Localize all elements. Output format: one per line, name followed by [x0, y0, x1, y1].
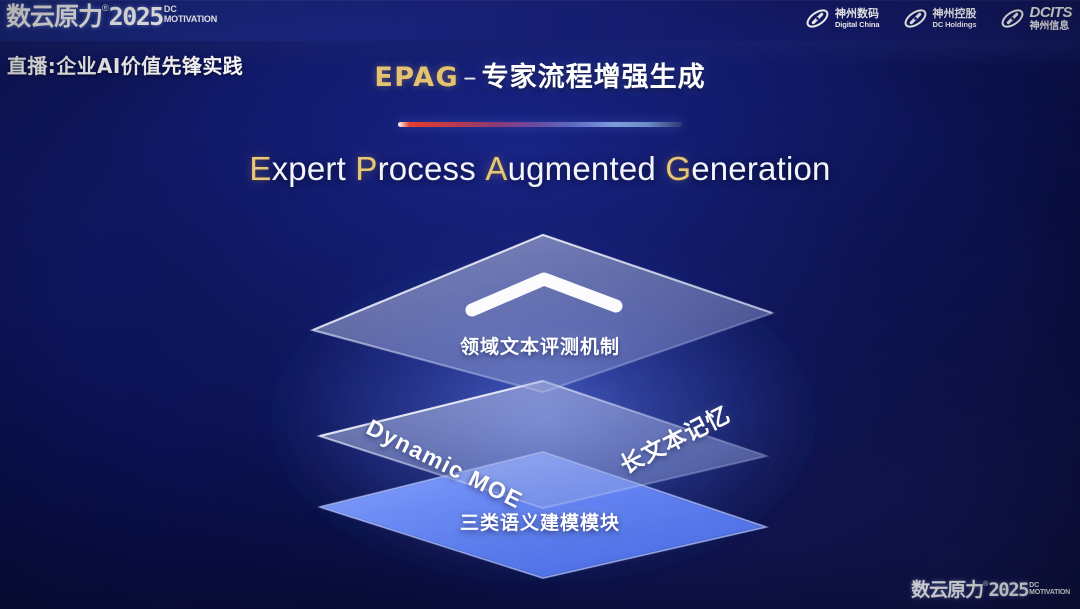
partner-logo-digital-china: 神州数码 Digital China — [804, 5, 880, 32]
title-divider — [398, 122, 682, 127]
partner-name-en: 神州信息 — [1030, 22, 1073, 32]
subtitle-cap-p: P — [355, 150, 377, 187]
partner-logo-dcits: DCITS 神州信息 — [999, 5, 1073, 32]
brand-logo-cn: 数云原力 — [6, 3, 102, 30]
brand-logo-dc-motivation: DC MOTIVATION — [164, 5, 217, 24]
presentation-slide: 数云原力 ® 2025 DC MOTIVATION 直播:企业AI价值先锋实践 … — [0, 0, 1080, 609]
brand-logo-registered-mark: ® — [102, 3, 109, 13]
subtitle-word-augmented: ugmented — [508, 150, 656, 187]
partner-name-en: Digital China — [835, 21, 880, 29]
diagram-layer-bottom-label: 三类语义建模模块 — [0, 508, 1080, 535]
slide-title-acronym: EPAG — [374, 62, 459, 93]
partner-name-en: DC Holdings — [933, 21, 977, 29]
diagram-layer-top-label: 领域文本评测机制 — [0, 332, 1080, 359]
brand-logo-year: 2025 — [109, 3, 163, 30]
subtitle-word-expert: xpert — [272, 150, 346, 187]
partner-name-cn: 神州数码 — [835, 8, 880, 19]
watermark-logo-dc-motivation: DC MOTIVATION — [1029, 582, 1070, 597]
subtitle-cap-g: G — [665, 150, 691, 187]
swirl-logo-icon — [804, 5, 831, 32]
diagram-layer-middle — [320, 381, 766, 508]
watermark-logo-year: 2025 — [988, 580, 1028, 601]
brand-logo: 数云原力 ® 2025 DC MOTIVATION — [6, 3, 217, 30]
watermark-logo-cn: 数云原力 — [911, 580, 983, 601]
slide-subtitle: Expert Process Augmented Generation — [0, 150, 1080, 188]
diagram-layer-middle-label-left: Dynamic MOE — [362, 414, 527, 515]
diagram-layer-top — [313, 235, 772, 392]
swirl-logo-icon — [902, 5, 929, 32]
subtitle-word-generation: eneration — [691, 150, 830, 187]
watermark-logo-motivation: MOTIVATION — [1029, 589, 1070, 597]
diagram-layer-middle-label-right: 长文本记忆 — [613, 396, 735, 481]
subtitle-word-process: rocess — [378, 150, 476, 187]
partner-name-cn: 神州控股 — [933, 8, 977, 19]
partner-name-cn: DCITS — [1030, 5, 1073, 20]
slide-title-dash: – — [459, 62, 482, 93]
subtitle-cap-e: E — [249, 150, 271, 187]
slide-title-chinese: 专家流程增强生成 — [482, 62, 706, 93]
brand-logo-motivation: MOTIVATION — [164, 14, 217, 24]
partner-logo-group: 神州数码 Digital China 神州控股 DC Holdings — [804, 5, 1072, 32]
diagram-layer-bottom — [320, 452, 766, 578]
chevron-up-icon — [472, 279, 616, 310]
watermark-brand-logo: 数云原力 ® 2025 DC MOTIVATION — [911, 580, 1070, 601]
subtitle-cap-a: A — [485, 150, 507, 187]
watermark-logo-dc: DC — [1029, 582, 1070, 589]
slide-title: EPAG–专家流程增强生成 — [0, 55, 1080, 94]
brand-logo-dc: DC — [164, 5, 217, 14]
swirl-logo-icon — [999, 5, 1026, 32]
partner-logo-dc-holdings: 神州控股 DC Holdings — [902, 5, 977, 32]
